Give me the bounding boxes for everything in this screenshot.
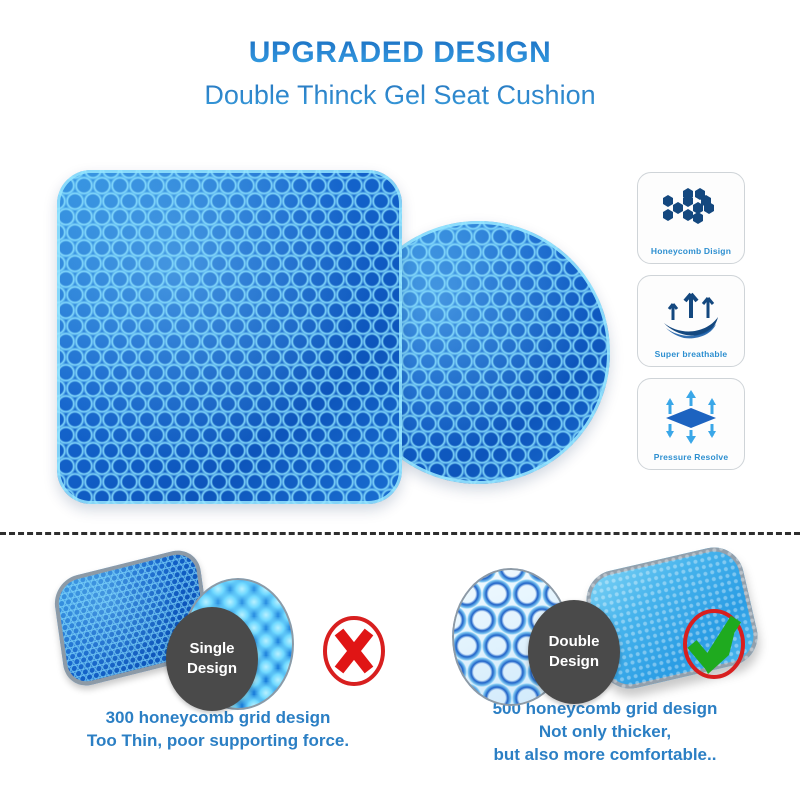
feature-badge-pressure: Pressure Resolve [637,378,745,470]
feature-badge-breathable: Super breathable [637,275,745,367]
pressure-diamond-icon [638,379,744,452]
double-design-caption-line2: Not only thicker, [420,721,790,744]
double-design-caption-line3: but also more comfortable.. [420,744,790,767]
section-divider [0,532,800,535]
page-title: UPGRADED DESIGN [0,36,800,69]
double-design-caption-line1: 500 honeycomb grid design [420,698,790,721]
feature-badge-honeycomb: Honeycomb Disign [637,172,745,264]
double-design-caption: 500 honeycomb grid design Not only thick… [420,698,790,767]
breathable-arrows-icon [638,276,744,349]
single-design-label-line1: Single [189,639,234,659]
feature-badge-label: Super breathable [655,349,728,359]
single-design-caption: 300 honeycomb grid design Too Thin, poor… [18,707,418,753]
double-design-label-line1: Double [549,632,600,652]
page-subtitle: Double Thinck Gel Seat Cushion [0,80,800,111]
feature-badge-label: Honeycomb Disign [651,246,731,256]
single-design-caption-line2: Too Thin, poor supporting force. [18,730,418,753]
square-gel-seat-cushion [57,170,402,504]
feature-badge-label: Pressure Resolve [654,452,729,462]
product-infographic: UPGRADED DESIGN Double Thinck Gel Seat C… [0,0,800,800]
honeycomb-icon [638,173,744,246]
single-design-label: Single Design [166,607,258,711]
double-design-label-line2: Design [549,652,599,672]
check-icon [682,608,746,680]
double-design-label: Double Design [528,600,620,704]
cross-icon [322,615,386,687]
single-design-label-line2: Design [187,659,237,679]
